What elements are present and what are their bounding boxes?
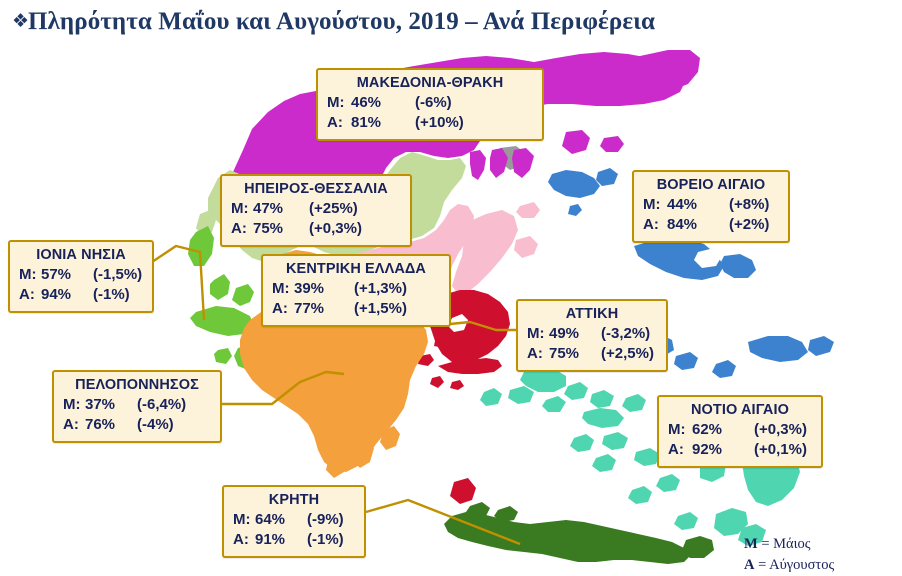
may-key: Μ:: [233, 510, 255, 530]
page-title: Πληρότητα Μαΐου και Αυγούστου, 2019 – Αν…: [28, 8, 655, 36]
aug-delta: (-1%): [307, 530, 344, 550]
aug-delta: (-1%): [93, 285, 130, 305]
callout-ionia-nisia[interactable]: ΙΟΝΙΑ ΝΗΣΙΑ Μ: 57% (-1,5%) Α: 94% (-1%): [8, 240, 154, 313]
callout-kentriki-ellada[interactable]: ΚΕΝΤΡΙΚΗ ΕΛΛΑΔΑ Μ: 39% (+1,3%) Α: 77% (+…: [261, 254, 451, 327]
aug-key: Α:: [643, 215, 667, 235]
may-delta: (-6,4%): [137, 395, 186, 415]
may-delta: (+0,3%): [754, 420, 807, 440]
callout-row-aug-kentriki-ellada: Α: 77% (+1,5%): [272, 299, 440, 319]
callout-row-may-notio-aigaio: Μ: 62% (+0,3%): [668, 420, 812, 440]
may-value: 57%: [41, 265, 93, 285]
legend: Μ = Μάιος Α = Αύγουστος: [744, 534, 834, 575]
aug-delta: (+0,3%): [309, 219, 362, 239]
callout-row-aug-peloponnisos: Α: 76% (-4%): [63, 415, 211, 435]
may-delta: (+25%): [309, 199, 358, 219]
callout-notio-aigaio[interactable]: ΝΟΤΙΟ ΑΙΓΑΙΟ Μ: 62% (+0,3%) Α: 92% (+0,1…: [657, 395, 823, 468]
region-shape-kriti: [444, 502, 714, 564]
aug-delta: (+2,5%): [601, 344, 654, 364]
callout-voreio-aigaio[interactable]: ΒΟΡΕΙΟ ΑΙΓΑΙΟ Μ: 44% (+8%) Α: 84% (+2%): [632, 170, 790, 243]
aug-key: Α:: [668, 440, 692, 460]
callout-row-may-peloponnisos: Μ: 37% (-6,4%): [63, 395, 211, 415]
may-key: Μ:: [231, 199, 253, 219]
callout-row-may-ipeiros-thessalia: Μ: 47% (+25%): [231, 199, 401, 219]
slide-canvas: ❖ Πληρότητα Μαΐου και Αυγούστου, 2019 – …: [0, 0, 902, 576]
legend-may-symbol: Μ: [744, 536, 758, 552]
aug-value: 75%: [549, 344, 601, 364]
may-value: 47%: [253, 199, 309, 219]
callout-row-may-kentriki-ellada: Μ: 39% (+1,3%): [272, 279, 440, 299]
may-value: 46%: [351, 93, 415, 113]
callout-title-kriti: ΚΡΗΤΗ: [233, 491, 355, 510]
legend-may-equals: =: [761, 536, 769, 552]
may-delta: (+1,3%): [354, 279, 407, 299]
callout-title-notio-aigaio: ΝΟΤΙΟ ΑΙΓΑΙΟ: [668, 401, 812, 420]
aug-delta: (+0,1%): [754, 440, 807, 460]
may-value: 64%: [255, 510, 307, 530]
may-key: Μ:: [19, 265, 41, 285]
callout-title-kentriki-ellada: ΚΕΝΤΡΙΚΗ ΕΛΛΑΔΑ: [272, 260, 440, 279]
legend-may-label: Μάιος: [773, 536, 810, 552]
callout-title-voreio-aigaio: ΒΟΡΕΙΟ ΑΙΓΑΙΟ: [643, 176, 779, 195]
callout-peloponnisos[interactable]: ΠΕΛΟΠΟΝΝΗΣΟΣ Μ: 37% (-6,4%) Α: 76% (-4%): [52, 370, 222, 443]
may-value: 44%: [667, 195, 729, 215]
callout-row-aug-ionia-nisia: Α: 94% (-1%): [19, 285, 143, 305]
callout-row-aug-makedonia-thraki: Α: 81% (+10%): [327, 113, 533, 133]
callout-row-may-ionia-nisia: Μ: 57% (-1,5%): [19, 265, 143, 285]
bullet-icon: ❖: [12, 12, 29, 31]
aug-key: Α:: [272, 299, 294, 319]
aug-value: 76%: [85, 415, 137, 435]
aug-key: Α:: [527, 344, 549, 364]
callout-title-attiki: ΑΤΤΙΚΗ: [527, 305, 657, 324]
callout-row-aug-attiki: Α: 75% (+2,5%): [527, 344, 657, 364]
legend-row-may: Μ = Μάιος: [744, 534, 834, 555]
aug-delta: (+2%): [729, 215, 769, 235]
title-bar: ❖ Πληρότητα Μαΐου και Αυγούστου, 2019 – …: [0, 8, 902, 44]
aug-value: 77%: [294, 299, 354, 319]
may-value: 37%: [85, 395, 137, 415]
aug-delta: (+1,5%): [354, 299, 407, 319]
callout-attiki[interactable]: ΑΤΤΙΚΗ Μ: 49% (-3,2%) Α: 75% (+2,5%): [516, 299, 668, 372]
aug-delta: (-4%): [137, 415, 174, 435]
aug-key: Α:: [63, 415, 85, 435]
may-delta: (-9%): [307, 510, 344, 530]
may-delta: (-1,5%): [93, 265, 142, 285]
aug-key: Α:: [19, 285, 41, 305]
legend-aug-equals: =: [758, 557, 766, 573]
aug-delta: (+10%): [415, 113, 464, 133]
legend-aug-symbol: Α: [744, 557, 754, 573]
callout-row-may-attiki: Μ: 49% (-3,2%): [527, 324, 657, 344]
aug-key: Α:: [233, 530, 255, 550]
may-value: 39%: [294, 279, 354, 299]
callout-ipeiros-thessalia[interactable]: ΗΠΕΙΡΟΣ-ΘΕΣΣΑΛΙΑ Μ: 47% (+25%) Α: 75% (+…: [220, 174, 412, 247]
callout-kriti[interactable]: ΚΡΗΤΗ Μ: 64% (-9%) Α: 91% (-1%): [222, 485, 366, 558]
may-value: 49%: [549, 324, 601, 344]
may-value: 62%: [692, 420, 754, 440]
may-delta: (-6%): [415, 93, 452, 113]
callout-title-ipeiros-thessalia: ΗΠΕΙΡΟΣ-ΘΕΣΣΑΛΙΑ: [231, 180, 401, 199]
aug-value: 84%: [667, 215, 729, 235]
callout-row-aug-voreio-aigaio: Α: 84% (+2%): [643, 215, 779, 235]
may-key: Μ:: [643, 195, 667, 215]
callout-title-ionia-nisia: ΙΟΝΙΑ ΝΗΣΙΑ: [19, 246, 143, 265]
may-delta: (+8%): [729, 195, 769, 215]
callout-row-aug-kriti: Α: 91% (-1%): [233, 530, 355, 550]
callout-row-may-kriti: Μ: 64% (-9%): [233, 510, 355, 530]
callout-row-aug-ipeiros-thessalia: Α: 75% (+0,3%): [231, 219, 401, 239]
aug-value: 75%: [253, 219, 309, 239]
aug-key: Α:: [231, 219, 253, 239]
callout-row-may-voreio-aigaio: Μ: 44% (+8%): [643, 195, 779, 215]
callout-title-peloponnisos: ΠΕΛΟΠΟΝΝΗΣΟΣ: [63, 376, 211, 395]
may-key: Μ:: [63, 395, 85, 415]
callout-makedonia-thraki[interactable]: ΜΑΚΕΔΟΝΙΑ-ΘΡΑΚΗ Μ: 46% (-6%) Α: 81% (+10…: [316, 68, 544, 141]
may-key: Μ:: [527, 324, 549, 344]
legend-aug-label: Αύγουστος: [769, 557, 834, 573]
aug-value: 92%: [692, 440, 754, 460]
callout-row-may-makedonia-thraki: Μ: 46% (-6%): [327, 93, 533, 113]
legend-row-aug: Α = Αύγουστος: [744, 555, 834, 576]
aug-key: Α:: [327, 113, 351, 133]
callout-title-makedonia-thraki: ΜΑΚΕΔΟΝΙΑ-ΘΡΑΚΗ: [327, 74, 533, 93]
callout-row-aug-notio-aigaio: Α: 92% (+0,1%): [668, 440, 812, 460]
may-key: Μ:: [272, 279, 294, 299]
may-delta: (-3,2%): [601, 324, 650, 344]
aug-value: 94%: [41, 285, 93, 305]
aug-value: 91%: [255, 530, 307, 550]
aug-value: 81%: [351, 113, 415, 133]
may-key: Μ:: [668, 420, 692, 440]
may-key: Μ:: [327, 93, 351, 113]
